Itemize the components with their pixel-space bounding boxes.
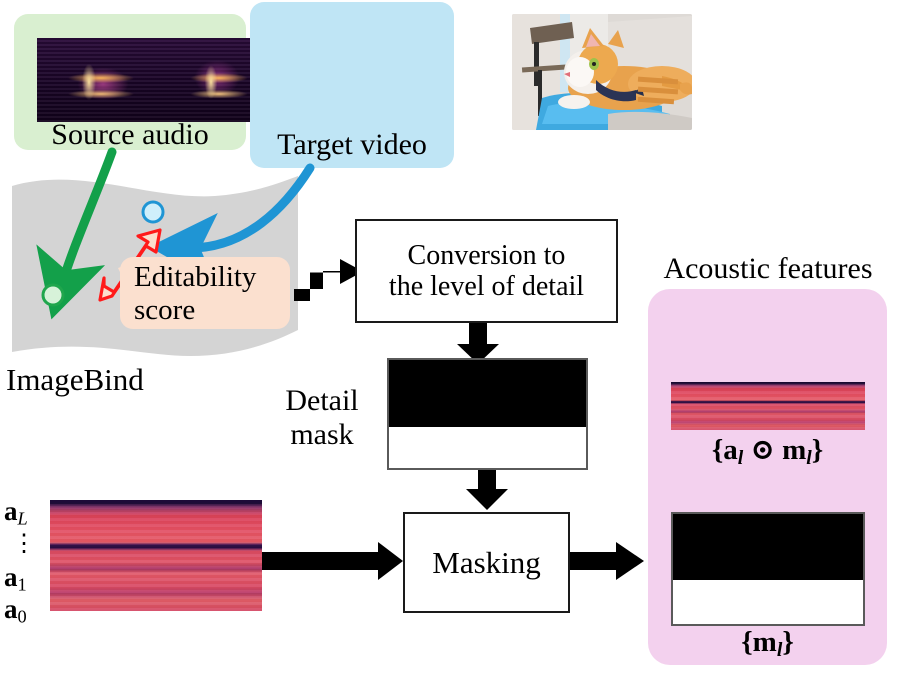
source-audio-to-embedding-arrow — [62, 152, 112, 284]
conversion-line2: the level of detail — [389, 271, 584, 302]
conversion-line1: Conversion to — [389, 240, 584, 271]
video-embedding-point — [143, 202, 163, 222]
acoustic-features-title: Acoustic features — [640, 252, 896, 286]
mask-set-label: {ml} — [648, 626, 887, 662]
masking-label: Masking — [432, 545, 541, 581]
detail-mask-image — [387, 358, 588, 470]
feature-label-a1: a1 — [4, 564, 27, 594]
detail-mask-line2: mask — [258, 418, 386, 452]
feature-label-dots: ⋮ — [12, 532, 36, 556]
feature-label-a0: a0 — [4, 596, 27, 626]
editability-callout-line2: score — [134, 294, 256, 327]
masking-block[interactable]: Masking — [403, 512, 570, 613]
score-to-conversion-step-arrow — [294, 259, 363, 301]
mask-set-image — [671, 512, 865, 626]
target-video-label: Target video — [250, 130, 454, 160]
target-video-to-embedding-arrow — [186, 168, 310, 248]
editability-callout-line1: Editability — [134, 261, 256, 294]
source-audio-card: Source audio — [14, 14, 246, 150]
feature-label-aL: aL — [4, 498, 28, 528]
masking-to-acoustic-arrow — [570, 542, 644, 580]
source-audio-spectrogram — [37, 38, 251, 122]
masked-acoustic-features-image — [671, 311, 865, 430]
imagebind-label: ImageBind — [6, 362, 206, 398]
editability-score-callout: Editability score — [120, 257, 290, 329]
detail-mask-label: Detail mask — [258, 384, 386, 452]
mask-to-masking-arrow — [466, 470, 508, 510]
masked-black-band — [671, 311, 865, 382]
masked-spectrogram-band — [671, 382, 865, 430]
mask-set-black-band — [673, 514, 863, 580]
feature-stack-labels: aL ⋮ a1 a0 — [4, 498, 48, 626]
audio-embedding-point — [43, 285, 63, 305]
target-video-card: Target video — [250, 2, 454, 168]
detail-mask-black-band — [389, 360, 586, 427]
features-to-masking-arrow — [262, 542, 403, 580]
conversion-block[interactable]: Conversion to the level of detail — [355, 219, 618, 323]
detail-mask-line1: Detail — [258, 384, 386, 418]
source-audio-label: Source audio — [14, 120, 246, 150]
target-video-frame — [512, 14, 692, 130]
masked-features-label: {al ⊙ ml} — [648, 432, 887, 470]
acoustic-feature-stack-image — [50, 500, 262, 611]
